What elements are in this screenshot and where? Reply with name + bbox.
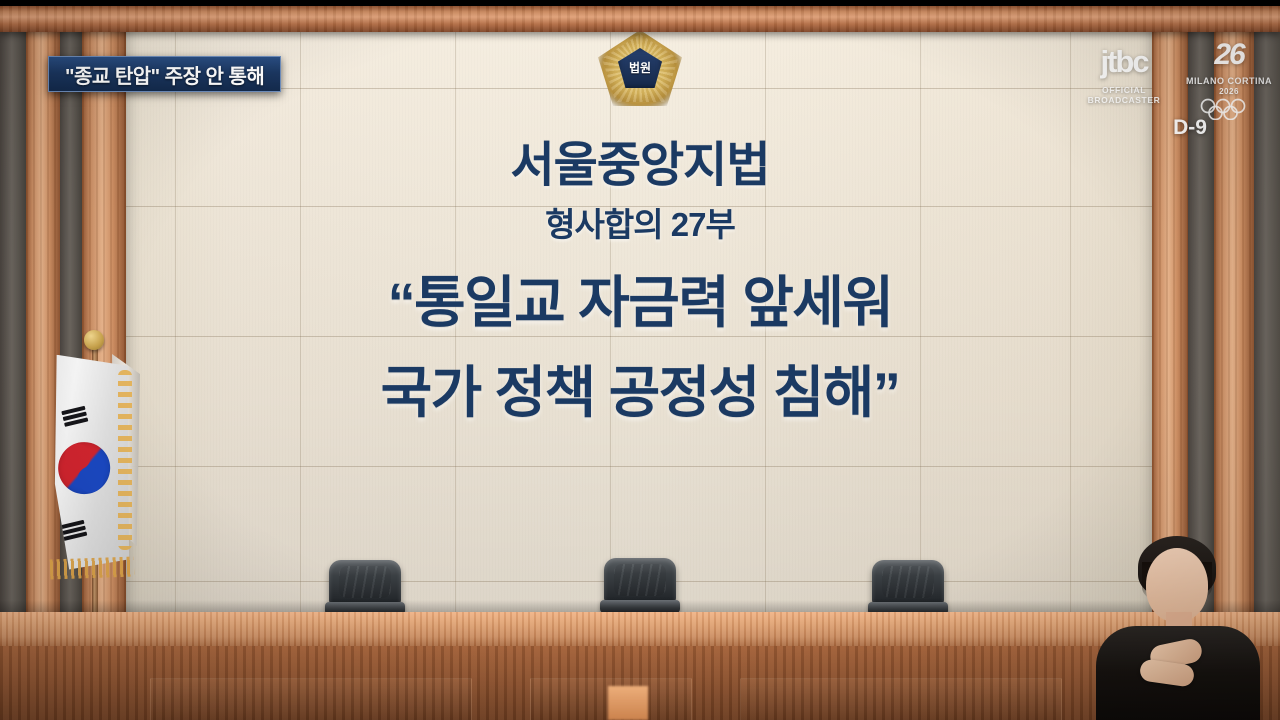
quote-line-1: “통일교 자금력 앞세워: [0, 258, 1280, 348]
headline-banner-text: "종교 탄압" 주장 안 통해: [65, 60, 264, 89]
milano-cortina-name: MILANO CORTINA: [1180, 76, 1278, 86]
bench-center-highlight: [608, 686, 648, 720]
bench-panel: [740, 678, 1062, 720]
headline-banner: "종교 탄압" 주장 안 통해: [48, 56, 281, 92]
jtbc-tagline: OFFICIAL BROADCASTER: [1066, 85, 1182, 105]
jtbc-logo: jtbc: [1074, 44, 1174, 80]
flag-fringe: [50, 557, 135, 580]
interpreter-head: [1146, 548, 1208, 622]
milano-cortina-year: 2026: [1180, 87, 1278, 96]
ruling-quote: “통일교 자금력 앞세워 국가 정책 공정성 침해”: [0, 258, 1280, 438]
flag-taeguk-icon: [49, 433, 120, 504]
letterbox-bar-top: [0, 0, 1280, 6]
court-division-subtitle: 형사합의 27부: [0, 198, 1280, 246]
bench-panel: [150, 678, 472, 720]
emblem-label: 법원: [618, 59, 662, 76]
quote-line-2: 국가 정책 공정성 침해”: [0, 348, 1280, 438]
court-emblem: 법원: [598, 30, 682, 106]
chair-back: [604, 558, 676, 604]
broadcast-screenshot: 법원: [0, 0, 1280, 720]
ceiling-cornice-beam: [0, 6, 1280, 32]
broadcaster-logo-group: jtbc OFFICIAL BROADCASTER 26 MILANO CORT…: [1060, 30, 1280, 150]
sign-language-interpreter: [1080, 530, 1280, 720]
flag-trigram-bottom: [60, 520, 87, 541]
milano-cortina-mark: 26: [1192, 38, 1266, 72]
olympics-countdown: D-9: [1130, 116, 1250, 140]
